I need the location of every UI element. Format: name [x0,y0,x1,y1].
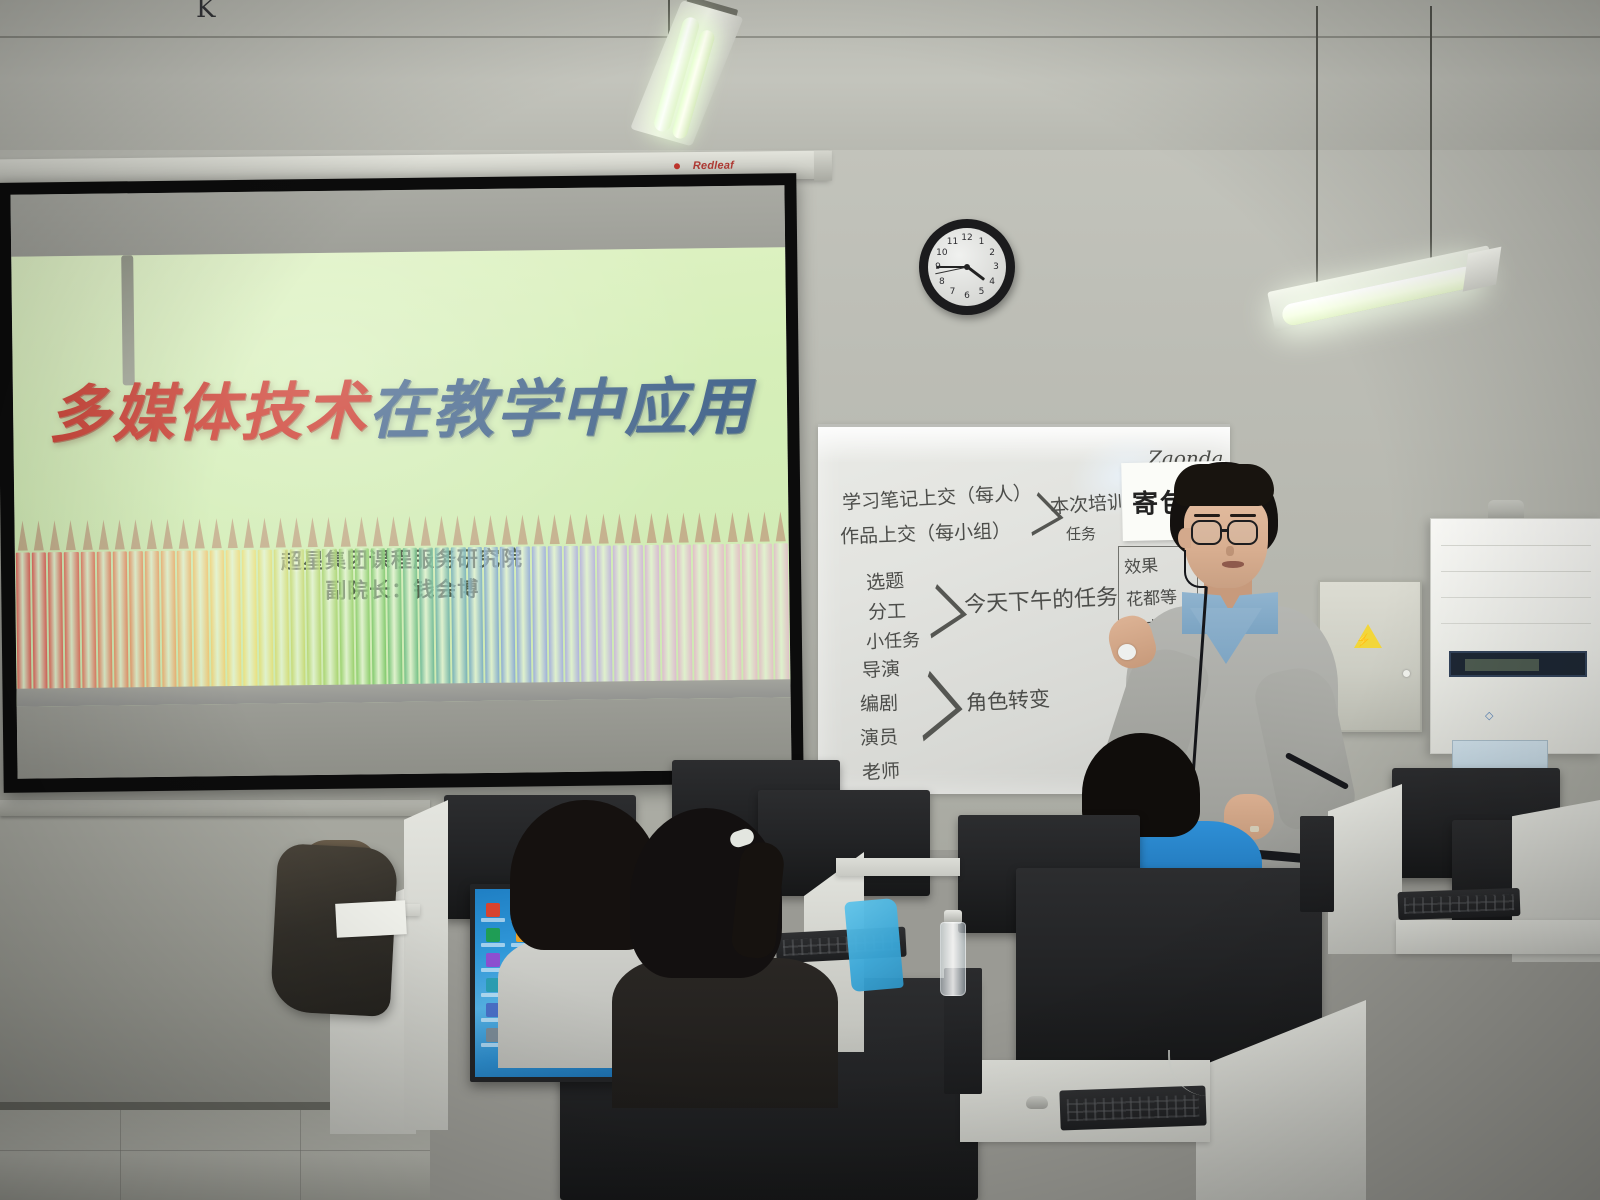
ac-display-readout [1465,659,1539,671]
pencil-tip [337,513,354,553]
clock-numeral: 4 [986,277,998,287]
desktop-icon[interactable] [481,928,505,947]
ac-slat [1441,623,1591,624]
pencil-tip [756,507,773,547]
desktop-icon-label [481,918,505,922]
pencil-tip [176,515,193,555]
pencil-tip [369,512,386,552]
pencil-tip [546,510,563,550]
clock-numeral: 2 [986,248,998,258]
pencil-tip [530,510,547,550]
floor-tile-line-2 [120,1110,121,1200]
pencil-tip [401,512,418,552]
screen-letterbox-top [10,185,785,256]
whiteboard-brace-3: ＞ [914,634,973,771]
classroom-photo: K Redleaf 多媒体技术在教学中应用 [0,0,1600,1200]
pencil-body [741,544,757,682]
pencil-tip [595,509,612,549]
whiteboard-note-5: 小任务 [866,626,921,654]
pencil-body [371,548,387,686]
pencil-body [177,551,193,689]
pencil-body [145,551,161,689]
pencil-tip [224,514,241,554]
pencil-body [113,551,129,689]
pencil-body [677,544,693,682]
clock-center-pin [964,264,970,270]
pencil-body [532,546,548,684]
glasses-icon-left [1191,520,1222,545]
pencil-body [709,544,725,682]
slide-title: 多媒体技术在教学中应用 [13,375,788,446]
pencil-tip [692,508,709,548]
pencil-tip [482,511,499,551]
pencil-tip [627,509,644,549]
pencil-body [209,550,225,688]
pencil-body [483,547,499,685]
desktop-icon-glyph [486,928,500,942]
pencil-body [451,547,467,685]
projector-brand-label: Redleaf [693,160,734,172]
whiteboard-marker-icon[interactable] [1118,644,1136,660]
pencil-body [435,547,451,685]
lamp-wire-right-1 [1316,6,1318,292]
pencil-body [290,549,306,687]
pencil-tip [514,510,531,550]
ac-display-panel [1449,651,1587,677]
pencil-tip [256,514,273,554]
ceiling-seam [0,36,1600,38]
pencil-body [661,545,677,683]
slide-title-blue: 在教学中应用 [368,370,753,448]
whiteboard-note-1: 学习笔记上交（每人） [841,478,1032,515]
pencil-tip [14,517,31,557]
glasses-bridge [1222,529,1229,532]
presentation-slide: 多媒体技术在教学中应用 超星集团课程服务研究院 副院长：钱会博 [11,247,790,706]
pencil-tip [643,509,660,549]
clock-numeral: 11 [947,237,959,247]
pencil-tip [611,509,628,549]
slide-title-red: 多媒体技术 [48,374,369,451]
water-bottle [940,922,966,996]
pencil-tip [288,513,305,553]
ceiling-mark: K [196,0,215,24]
desk-partition [1328,784,1402,954]
pencil-tip [159,515,176,555]
presenter-ear [1178,528,1191,548]
pencil-body [758,543,774,681]
ac-slat [1441,571,1591,572]
pencil-body [725,544,741,682]
student-ponytail [616,808,832,1098]
pencil-tip [385,512,402,552]
pencil-body [354,548,370,686]
lamp-wire-right-2 [1430,6,1432,274]
pencil-body [596,545,612,683]
ac-slat [1441,545,1591,546]
pencil-body [548,546,564,684]
clock-numeral: 10 [936,248,948,258]
desktop-icon-label [481,943,505,947]
brand-dot-icon [674,163,680,169]
wall-clock: 121234567891011 [919,219,1015,315]
whiteboard-result-3: 角色转变 [965,683,1050,717]
clock-numeral: 5 [976,287,988,297]
projector-screen: 多媒体技术在教学中应用 超星集团课程服务研究院 副院长：钱会博 [0,173,804,793]
screen-case-endcap [814,151,832,181]
pencil-body [64,552,80,690]
pencil-body [225,550,241,688]
headset-mic-icon [1184,550,1206,588]
desk-surface [836,858,960,876]
pencil-body [629,545,645,683]
pencil-body [645,545,661,683]
pencil-tip [95,516,112,556]
clock-numeral: 3 [990,262,1002,272]
pencil-body [193,550,209,688]
presenter-eyebrow-right [1230,514,1256,517]
pencil-body [612,545,628,683]
floor-tile-line [0,1150,430,1151]
pencil-body [580,546,596,684]
pencil-body [242,550,258,688]
pencil-tip [353,512,370,552]
pencil-body [322,549,338,687]
pencil-body [419,548,435,686]
pencil-body [403,548,419,686]
pencil-tip [434,511,451,551]
pencil-body [516,546,532,684]
pencil-tip [466,511,483,551]
whiteboard-note-6: 导演 [861,654,900,683]
desktop-icon[interactable] [481,903,505,922]
clock-numeral: 12 [961,233,973,243]
panel-lock-icon[interactable] [1403,670,1410,677]
pencil-tip [740,508,757,548]
pencil-body [564,546,580,684]
pencil-tip [724,508,741,548]
pencil-body [774,543,790,681]
clock-numeral: 9 [932,262,944,272]
pencil-body [32,552,48,690]
pencil-body [274,549,290,687]
clock-numeral: 6 [961,291,973,301]
pencil-tip [47,516,64,556]
whiteboard-note-2: 作品上交（每小组） [840,516,1012,549]
whiteboard-note-9: 老师 [861,756,900,785]
whiteboard-note-8: 演员 [860,722,899,750]
pencil-tip [450,511,467,551]
pencil-tip [127,515,144,555]
clock-numeral: 1 [976,237,988,247]
air-conditioner-unit: ◇ [1430,518,1600,754]
slide-pencil-graphic [14,507,790,706]
whiteboard-note-4: 分工 [868,596,907,624]
student-ponytail-shoulders [612,958,838,1108]
pencil-tip [708,508,725,548]
pencil-tip [305,513,322,553]
desk-surface [1396,920,1600,954]
pencil-body [338,549,354,687]
pencil-tip [79,516,96,556]
pencil-tip [321,513,338,553]
pencil-tip [772,507,789,547]
pencil-tip [143,515,160,555]
presenter-eyebrow-left [1194,514,1220,517]
pencil-body [387,548,403,686]
pencil-tip [240,514,257,554]
pencil-tip [111,515,128,555]
pencil-body [500,547,516,685]
keyboard[interactable] [1398,888,1521,920]
clock-numeral: 7 [947,287,959,297]
pencil-tip [563,510,580,550]
pencil-body [693,544,709,682]
pencil-body [16,553,32,691]
desk-partition [404,800,448,1130]
presenter-nose [1226,546,1234,556]
presenter-hair-fringe [1174,464,1274,506]
pencil-tip [675,508,692,548]
pencil-body [48,552,64,690]
pencil-tip [192,514,209,554]
presenter-mouth [1222,561,1244,568]
blue-bag [844,898,904,992]
ac-top-cylinder [1488,500,1524,520]
pencil-tip [31,516,48,556]
glasses-icon-right [1227,520,1258,545]
wall-rail [0,800,430,816]
pc-tower [1300,816,1334,912]
pencil-bodies [15,543,791,690]
whiteboard-note-7: 编剧 [860,688,899,716]
pencil-body [129,551,145,689]
projector-screen-surface: 多媒体技术在教学中应用 超星集团课程服务研究院 副院长：钱会博 [10,185,791,778]
pencil-tip [272,513,289,553]
pointer-shadow [121,255,135,385]
clock-face: 121234567891011 [928,228,1006,306]
paper-sheet [335,900,407,938]
keyboard[interactable] [1059,1085,1206,1130]
pencil-body [80,552,96,690]
pencil-tip [208,514,225,554]
pencil-tip [579,510,596,550]
ac-slat [1441,597,1591,598]
pencil-tip [63,516,80,556]
pencil-body [161,551,177,689]
whiteboard-note-3: 选题 [865,566,905,596]
pencil-body [96,552,112,690]
desktop-icon-glyph [486,953,500,967]
pencil-body [467,547,483,685]
ac-brand-logo: ◇ [1485,709,1493,722]
clock-numeral: 8 [936,277,948,287]
mouse[interactable] [1026,1096,1048,1109]
pencil-tip [659,509,676,549]
pencil-tip [498,511,515,551]
floor-tile-line-3 [300,1110,301,1200]
pencil-body [258,550,274,688]
desktop-icon-glyph [486,903,500,917]
pencil-tip [417,512,434,552]
pencil-body [306,549,322,687]
lamp-endcap [1463,247,1502,292]
